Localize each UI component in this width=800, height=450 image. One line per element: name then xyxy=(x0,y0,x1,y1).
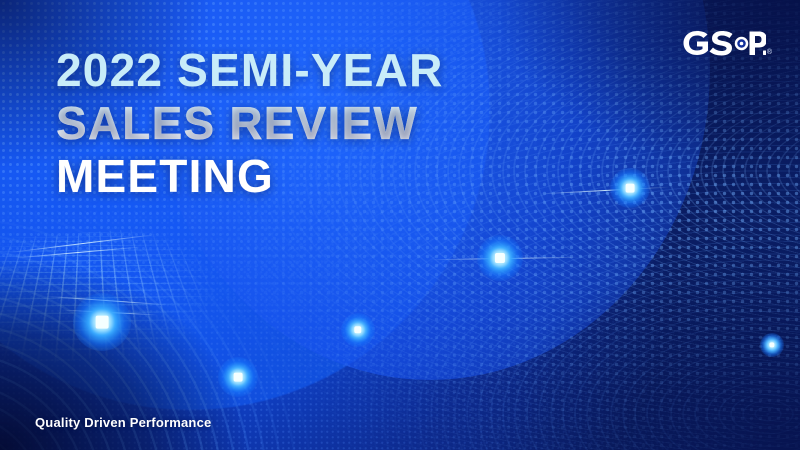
title-line-1: 2022 SEMI-YEAR xyxy=(56,44,676,97)
slide-content: 2022 SEMI-YEAR SALES REVIEW MEETING Qual… xyxy=(0,0,800,450)
title-slide: 2022 SEMI-YEAR SALES REVIEW MEETING Qual… xyxy=(0,0,800,450)
slide-title: 2022 SEMI-YEAR SALES REVIEW MEETING xyxy=(56,44,676,203)
gsp-logo-mark xyxy=(682,28,766,58)
registered-mark-icon: ® xyxy=(767,49,772,56)
tagline: Quality Driven Performance xyxy=(35,415,211,430)
gsp-logo: ® xyxy=(682,24,772,58)
title-line-3: MEETING xyxy=(56,150,676,203)
title-line-2: SALES REVIEW xyxy=(56,97,676,150)
